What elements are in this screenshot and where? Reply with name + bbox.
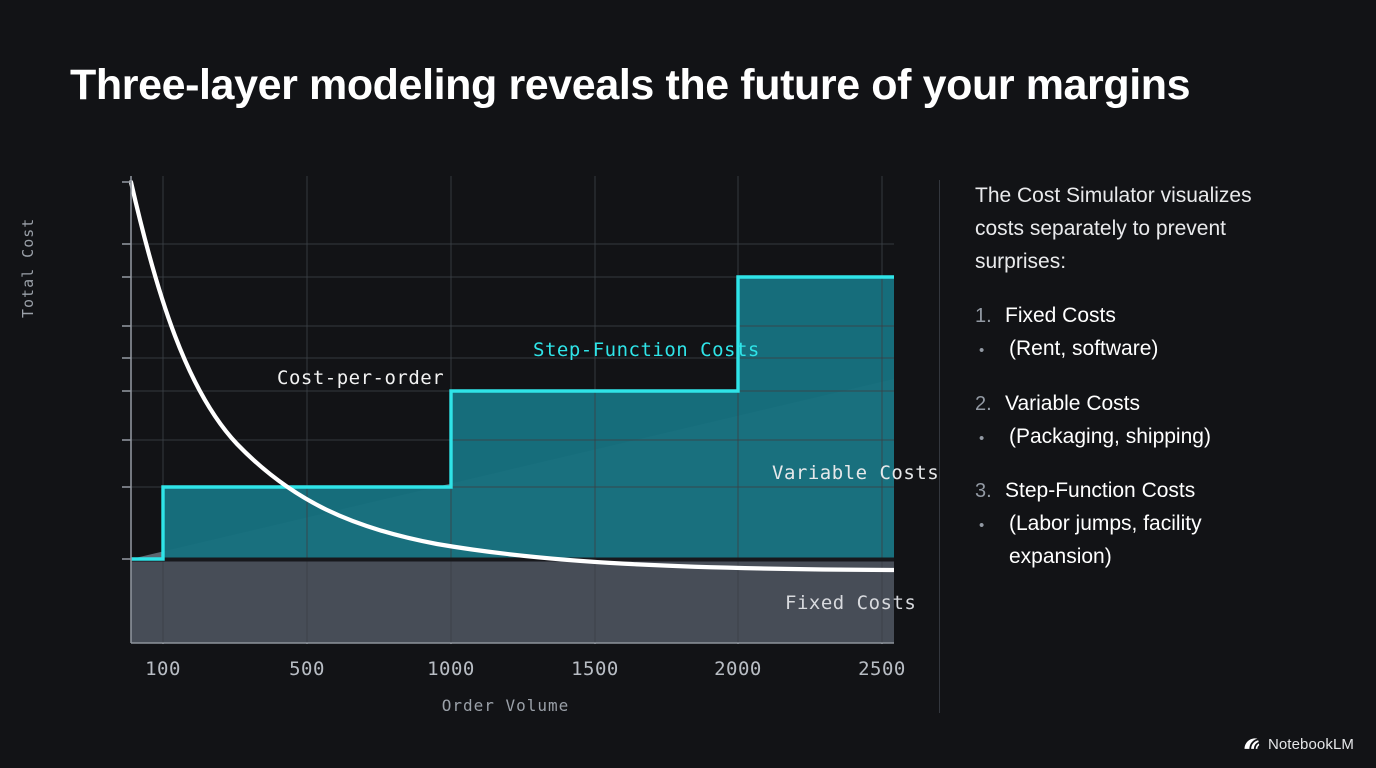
list-item-label: Step-Function Costs — [1005, 475, 1305, 508]
list-item-label: (Labor jumps, facility expansion) — [1009, 508, 1305, 574]
notebooklm-arc-icon — [1242, 735, 1261, 754]
x-axis-tick-labels: 100 500 1000 1500 2000 2500 — [117, 658, 894, 684]
list-item-label: (Rent, software) — [1009, 333, 1305, 366]
list-item: 1. Fixed Costs • (Rent, software) — [975, 300, 1305, 366]
list-item-row: 2. Variable Costs — [975, 388, 1305, 421]
list-item-marker: 3. — [975, 476, 1005, 507]
fixed-costs-band — [131, 561, 894, 643]
list-item-bullet-marker: • — [975, 427, 1009, 450]
annotation-fixed-costs: Fixed Costs — [785, 592, 916, 614]
list-item-row: 3. Step-Function Costs — [975, 475, 1305, 508]
list-item-row: • (Labor jumps, facility expansion) — [975, 508, 1305, 574]
list-item-label: (Packaging, shipping) — [1009, 421, 1305, 454]
x-tick-label: 1500 — [571, 658, 619, 680]
list-item-marker: 1. — [975, 301, 1005, 332]
list-item: 2. Variable Costs • (Packaging, shipping… — [975, 388, 1305, 454]
annotation-variable-costs: Variable Costs — [772, 462, 939, 484]
x-axis-label: Order Volume — [117, 696, 894, 715]
list-item-label: Variable Costs — [1005, 388, 1305, 421]
x-tick-label: 2500 — [858, 658, 906, 680]
explanation-panel: The Cost Simulator visualizes costs sepa… — [975, 180, 1305, 574]
slide-root: Three-layer modeling reveals the future … — [0, 0, 1376, 768]
x-tick-label: 2000 — [714, 658, 762, 680]
annotation-cost-per-order: Cost-per-order — [277, 367, 444, 389]
panel-intro-text: The Cost Simulator visualizes costs sepa… — [975, 180, 1305, 278]
brand-label: NotebookLM — [1268, 736, 1354, 753]
cost-simulator-chart: Total Cost — [66, 168, 926, 718]
list-item-row: 1. Fixed Costs — [975, 300, 1305, 333]
x-tick-label: 100 — [145, 658, 181, 680]
list-item-label: Fixed Costs — [1005, 300, 1305, 333]
annotation-step-function-costs: Step-Function Costs — [533, 339, 760, 361]
list-item-bullet-marker: • — [975, 339, 1009, 362]
x-tick-label: 500 — [289, 658, 325, 680]
section-divider — [939, 180, 940, 713]
page-title: Three-layer modeling reveals the future … — [70, 62, 1310, 109]
y-axis-label: Total Cost — [19, 218, 37, 318]
footer-branding: NotebookLM — [1242, 735, 1354, 754]
list-item: 3. Step-Function Costs • (Labor jumps, f… — [975, 475, 1305, 573]
plot-area: Cost-per-order Step-Function Costs Varia… — [117, 176, 894, 644]
y-axis-ticks — [122, 182, 131, 559]
list-item-row: • (Rent, software) — [975, 333, 1305, 366]
x-tick-label: 1000 — [427, 658, 475, 680]
list-item-bullet-marker: • — [975, 514, 1009, 537]
cost-layer-list: 1. Fixed Costs • (Rent, software) 2. Var… — [975, 300, 1305, 573]
list-item-row: • (Packaging, shipping) — [975, 421, 1305, 454]
chart-svg — [117, 176, 894, 644]
step-function-area — [131, 277, 894, 559]
list-item-marker: 2. — [975, 389, 1005, 420]
